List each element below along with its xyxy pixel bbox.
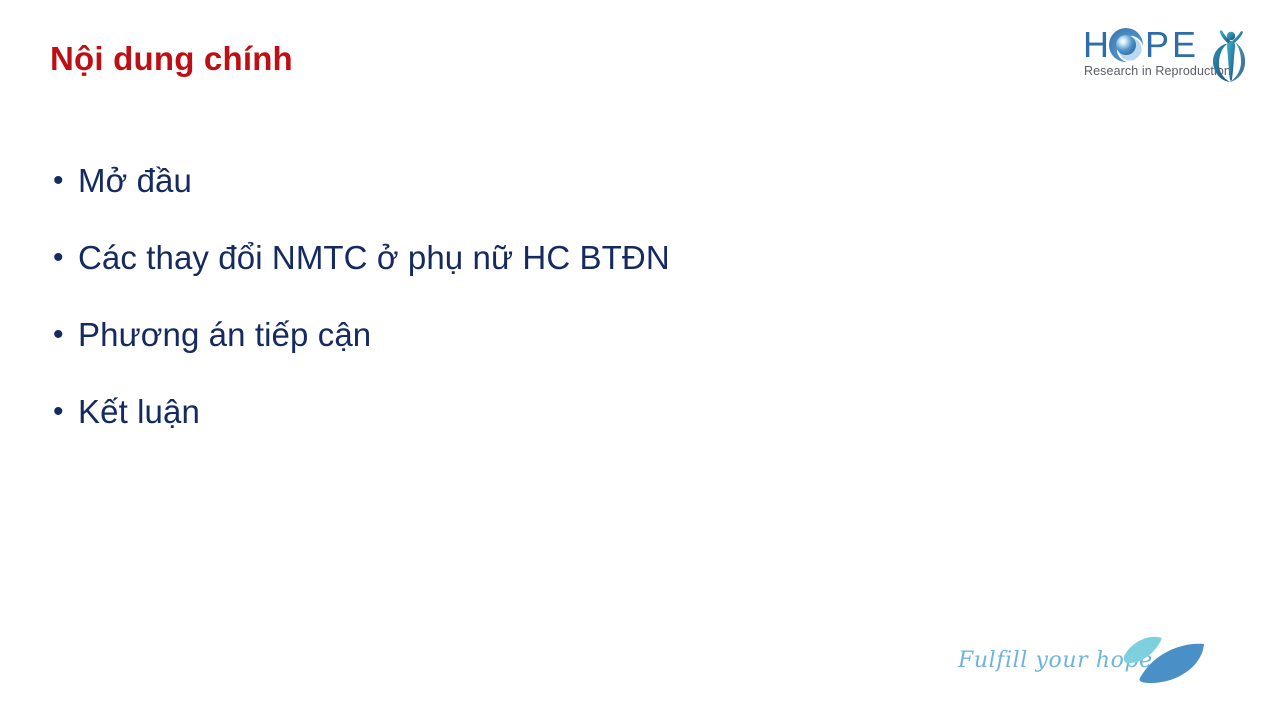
bullet-marker-icon: • [50,235,78,281]
bullet-list: • Mở đầu • Các thay đổi NMTC ở phụ nữ HC… [50,158,1050,466]
list-item: • Kết luận [50,389,1050,466]
list-item: • Các thay đổi NMTC ở phụ nữ HC BTĐN [50,235,1050,312]
bullet-marker-icon: • [50,389,78,435]
leaf-pair-icon [1118,634,1214,686]
list-item-label: Mở đầu [78,158,192,204]
list-item: • Phương án tiếp cận [50,312,1050,389]
list-item-label: Các thay đổi NMTC ở phụ nữ HC BTĐN [78,235,670,281]
brand-letter-e: E [1172,27,1196,63]
slide-canvas: Nội dung chính H P E Research in Reprodu… [0,0,1280,720]
list-item-label: Phương án tiếp cận [78,312,371,358]
bullet-marker-icon: • [50,312,78,358]
list-item: • Mở đầu [50,158,1050,235]
list-item-label: Kết luận [78,389,200,435]
brand-logo: H P E Research in Reproduction [1083,24,1251,86]
bullet-marker-icon: • [50,158,78,204]
eye-globe-icon [1109,28,1143,62]
human-figure-icon [1209,24,1251,84]
brand-letter-h: H [1083,27,1109,63]
page-title: Nội dung chính [50,40,293,78]
brand-letter-p: P [1145,27,1169,63]
brand-wordmark: H P E [1083,24,1201,64]
